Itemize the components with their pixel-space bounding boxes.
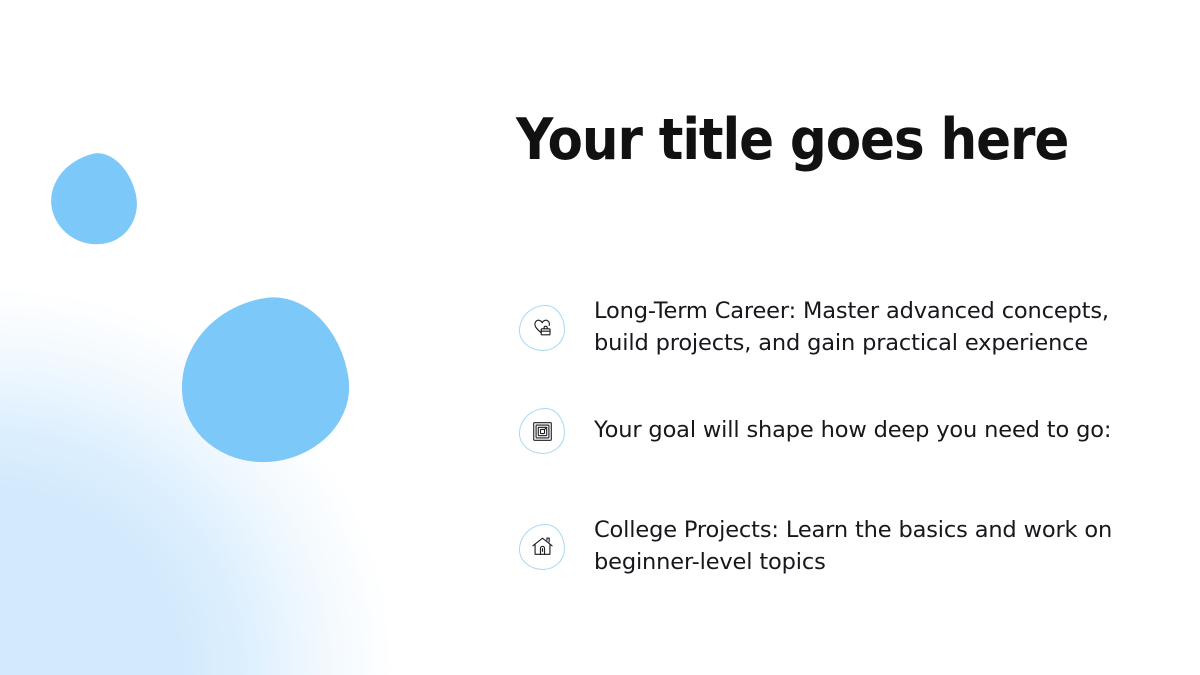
list-item-label: College Projects: Learn the basics and w… xyxy=(594,515,1114,578)
corner-glow-shape xyxy=(0,260,450,675)
list-item[interactable]: College Projects: Learn the basics and w… xyxy=(516,515,1116,578)
bullet-icon-badge xyxy=(516,303,568,353)
presentation-slide: Your title goes here Long-Term Career: M… xyxy=(0,0,1200,675)
list-item[interactable]: Long-Term Career: Master advanced concep… xyxy=(516,296,1116,359)
list-item-label: Long-Term Career: Master advanced concep… xyxy=(594,296,1114,359)
bullet-icon-badge xyxy=(516,406,568,456)
list-item[interactable]: Your goal will shape how deep you need t… xyxy=(516,406,1116,456)
heart-briefcase-icon xyxy=(529,314,556,341)
page-title: Your title goes here xyxy=(516,112,1068,169)
slide-content: Your title goes here Long-Term Career: M… xyxy=(516,0,1116,675)
list-item-label: Your goal will shape how deep you need t… xyxy=(594,415,1114,447)
nested-frames-target-icon xyxy=(529,418,556,445)
large-blob-shape xyxy=(170,288,358,473)
small-blob-shape xyxy=(41,146,145,254)
house-icon xyxy=(529,533,556,560)
bullet-icon-badge xyxy=(516,522,568,572)
